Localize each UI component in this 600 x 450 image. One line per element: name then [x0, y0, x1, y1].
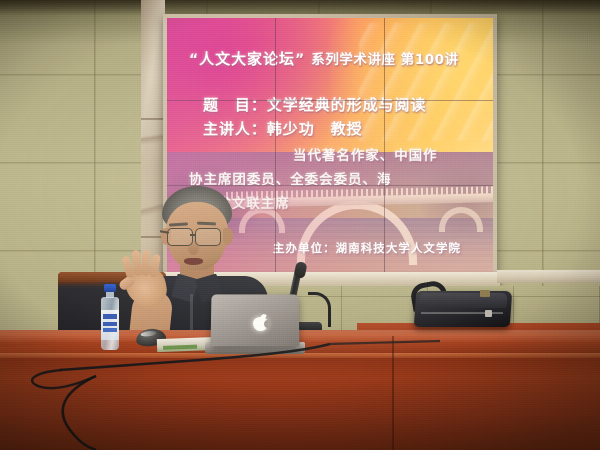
lecture-hall-photograph: “人文大家论坛” 系列学术讲座 第100讲 题 目：文学经典的形成与阅读 主讲人… [0, 0, 600, 450]
scene-vignette [0, 0, 600, 450]
